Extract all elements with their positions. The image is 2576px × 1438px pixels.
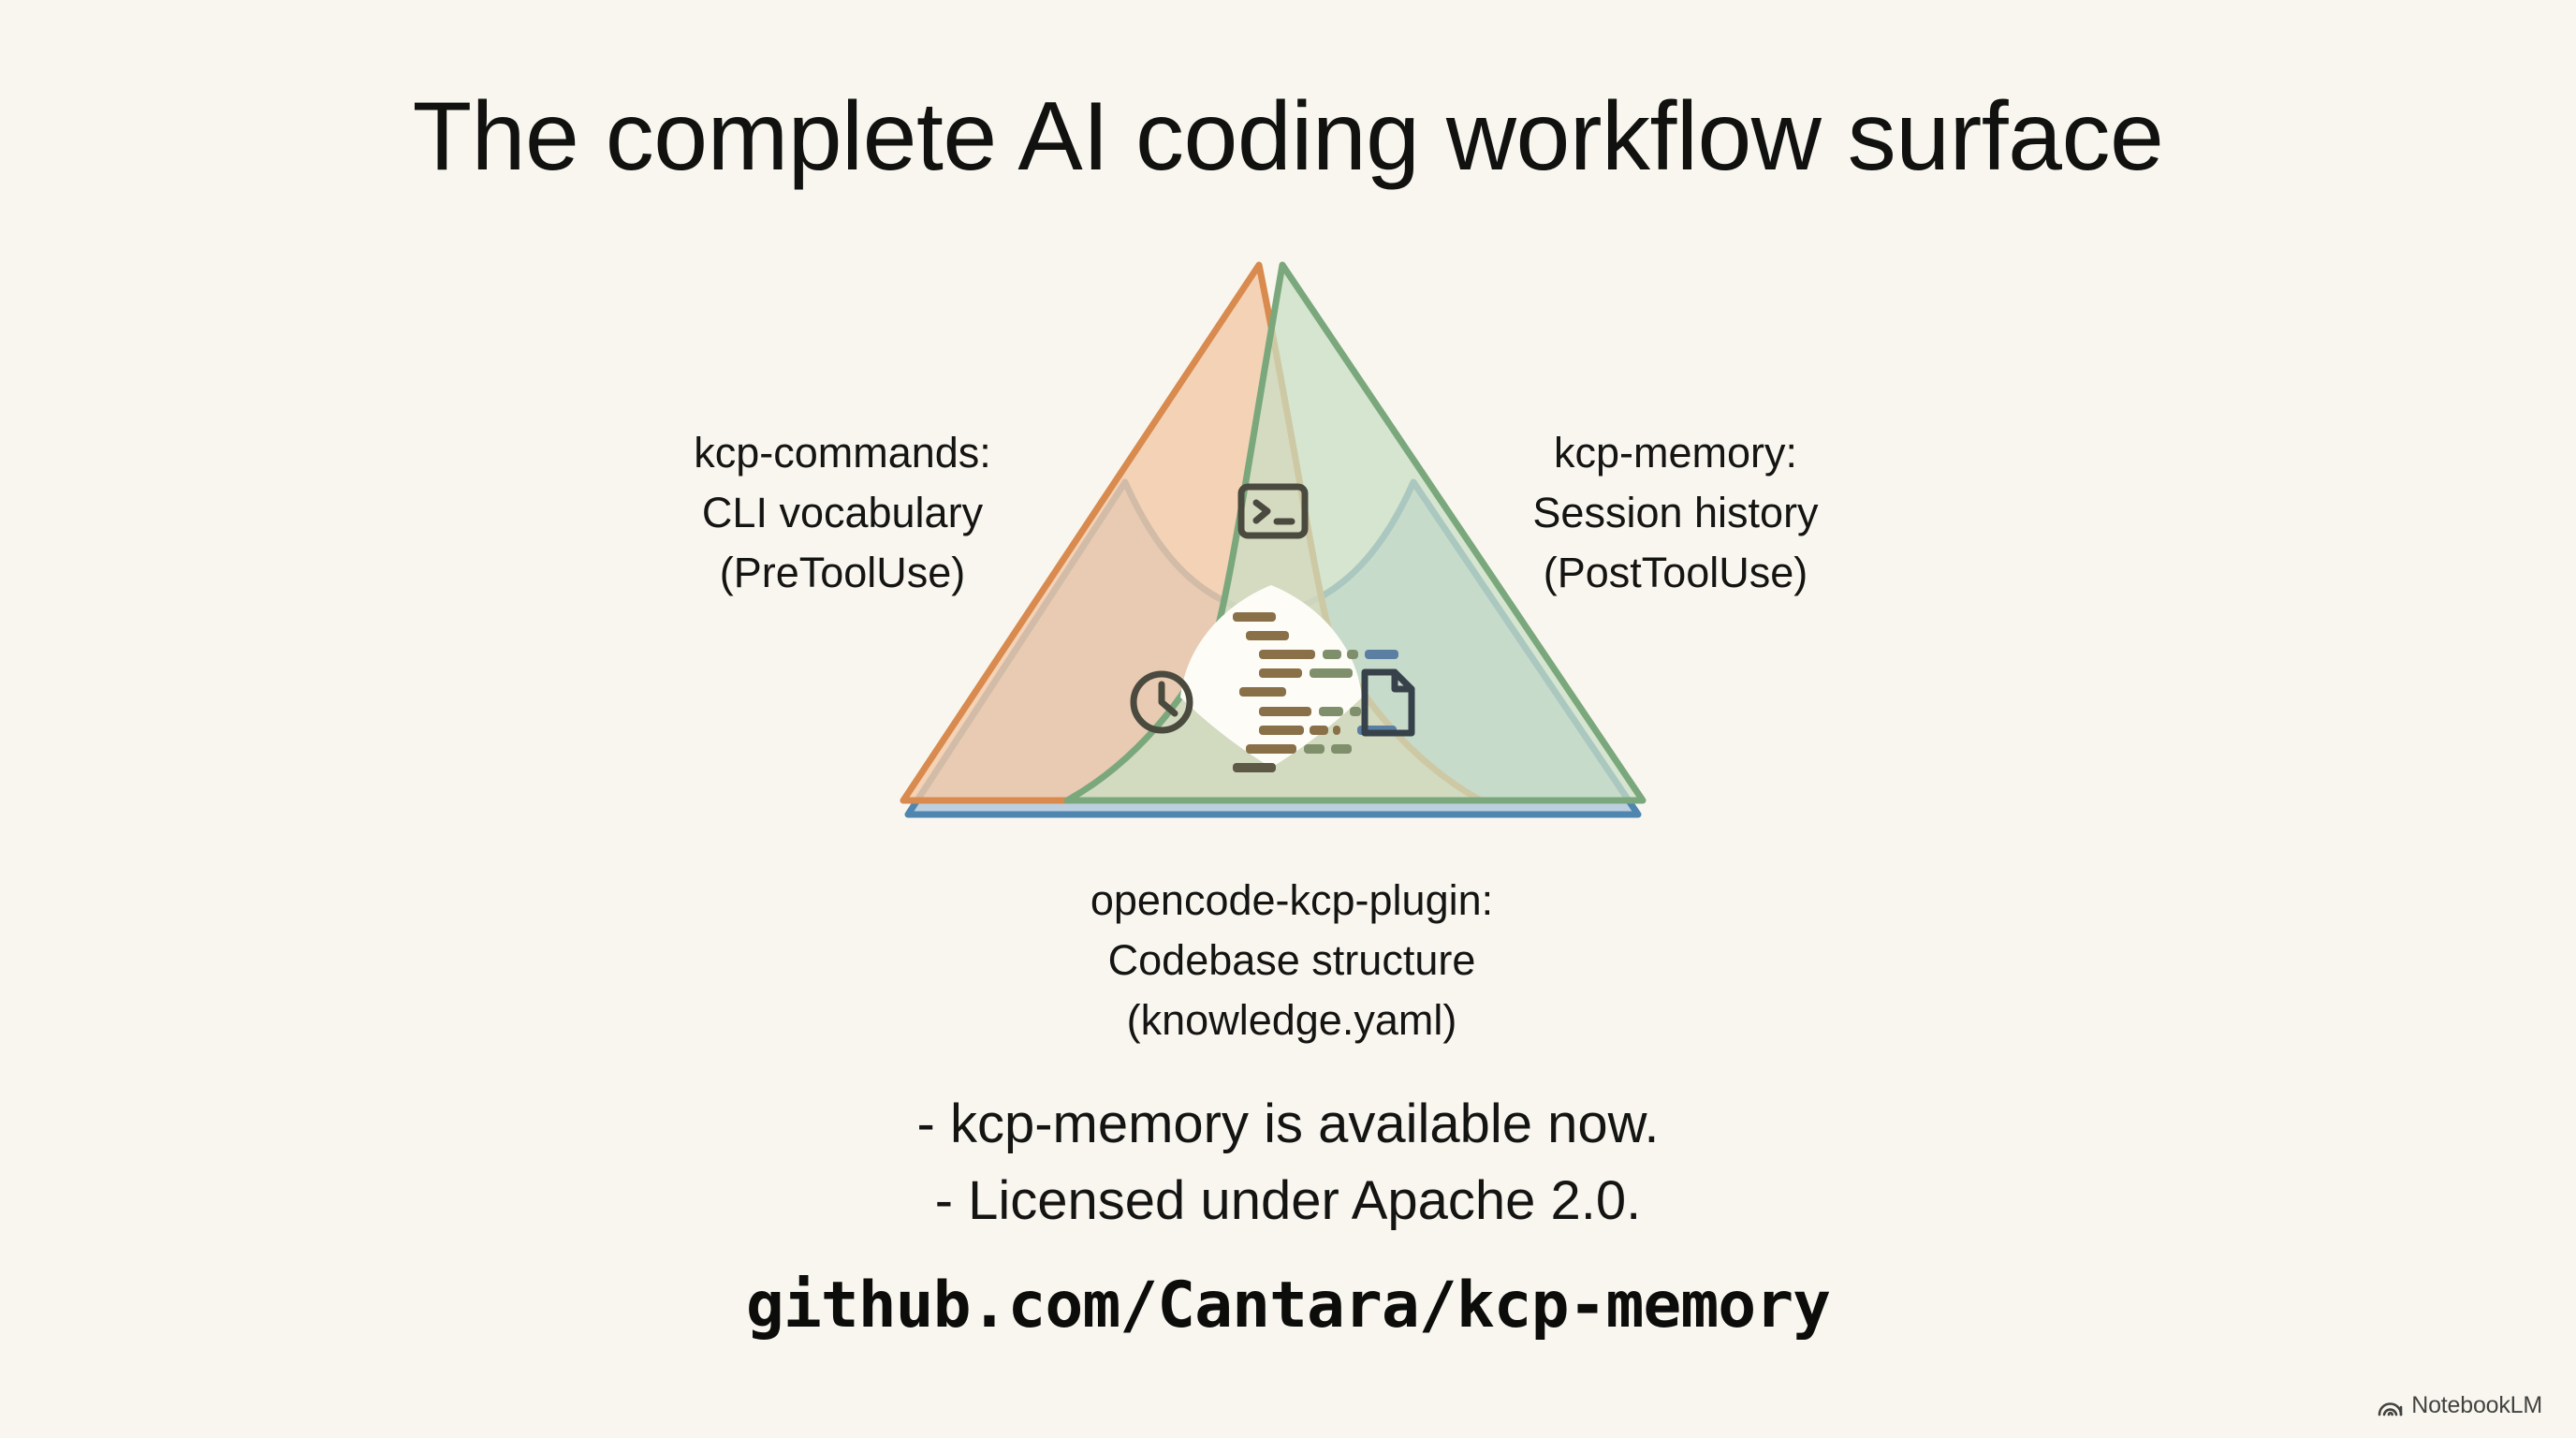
label-kcp-memory: kcp-memory: Session history (PostToolUse…: [1432, 423, 1919, 603]
slide-canvas: The complete AI coding workflow surface: [0, 0, 2576, 1438]
label-kcp-memory-line1: kcp-memory:: [1432, 423, 1919, 483]
repo-url[interactable]: github.com/Cantara/kcp-memory: [0, 1269, 2576, 1343]
label-kcp-commands: kcp-commands: CLI vocabulary (PreToolUse…: [599, 423, 1086, 603]
label-kcp-memory-line2: Session history: [1432, 483, 1919, 543]
notebooklm-watermark: NotebookLM: [2378, 1392, 2542, 1419]
bullet-list: - kcp-memory is available now. - License…: [0, 1086, 2576, 1240]
label-kcp-memory-line3: (PostToolUse): [1432, 543, 1919, 603]
label-opencode-kcp-plugin-line3: (knowledge.yaml): [1030, 990, 1554, 1050]
notebooklm-label: NotebookLM: [2411, 1392, 2542, 1419]
notebooklm-logo-icon: [2378, 1396, 2403, 1416]
label-opencode-kcp-plugin: opencode-kcp-plugin: Codebase structure …: [1030, 871, 1554, 1050]
label-kcp-commands-line2: CLI vocabulary: [599, 483, 1086, 543]
bullet-item: - kcp-memory is available now.: [0, 1086, 2576, 1163]
label-kcp-commands-line1: kcp-commands:: [599, 423, 1086, 483]
bullet-item: - Licensed under Apache 2.0.: [0, 1163, 2576, 1240]
label-opencode-kcp-plugin-line1: opencode-kcp-plugin:: [1030, 871, 1554, 931]
label-opencode-kcp-plugin-line2: Codebase structure: [1030, 931, 1554, 990]
page-title: The complete AI coding workflow surface: [0, 84, 2576, 189]
label-kcp-commands-line3: (PreToolUse): [599, 543, 1086, 603]
